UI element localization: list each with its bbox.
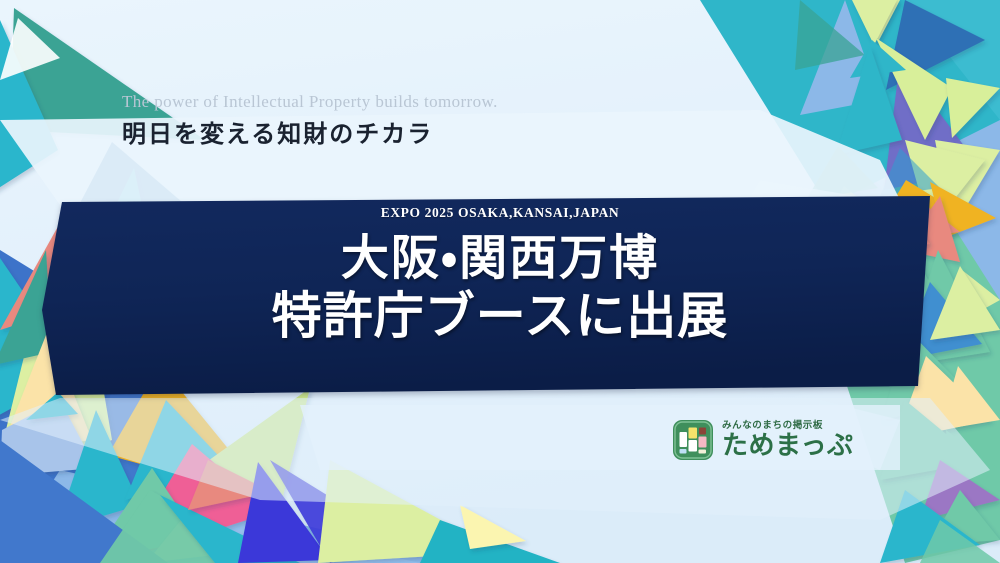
tamemap-board-icon xyxy=(672,419,714,461)
headline: 大阪・関西万博 特許庁ブースに出展 xyxy=(0,230,1000,346)
headline-line-2: 特許庁ブースに出展 xyxy=(0,286,1000,345)
expo-eyebrow-label: EXPO 2025 OSAKA,KANSAI,JAPAN xyxy=(0,206,1000,221)
logo-name: ためまっぷ xyxy=(722,433,853,459)
promo-banner-canvas: The power of Intellectual Property build… xyxy=(0,0,1000,563)
tagline-block: The power of Intellectual Property build… xyxy=(122,92,498,149)
logo-wordmark: みんなのまちの掲示板 ためまっぷ xyxy=(722,421,853,459)
banner-text-block: EXPO 2025 OSAKA,KANSAI,JAPAN 大阪・関西万博 特許庁… xyxy=(0,206,1000,345)
headline-line-1: 大阪・関西万博 xyxy=(0,230,1000,287)
tagline-english: The power of Intellectual Property build… xyxy=(122,92,498,112)
tamemap-logo[interactable]: みんなのまちの掲示板 ためまっぷ xyxy=(672,419,853,461)
logo-subtitle: みんなのまちの掲示板 xyxy=(722,421,853,431)
tagline-japanese: 明日を変える知財のチカラ xyxy=(122,119,498,149)
